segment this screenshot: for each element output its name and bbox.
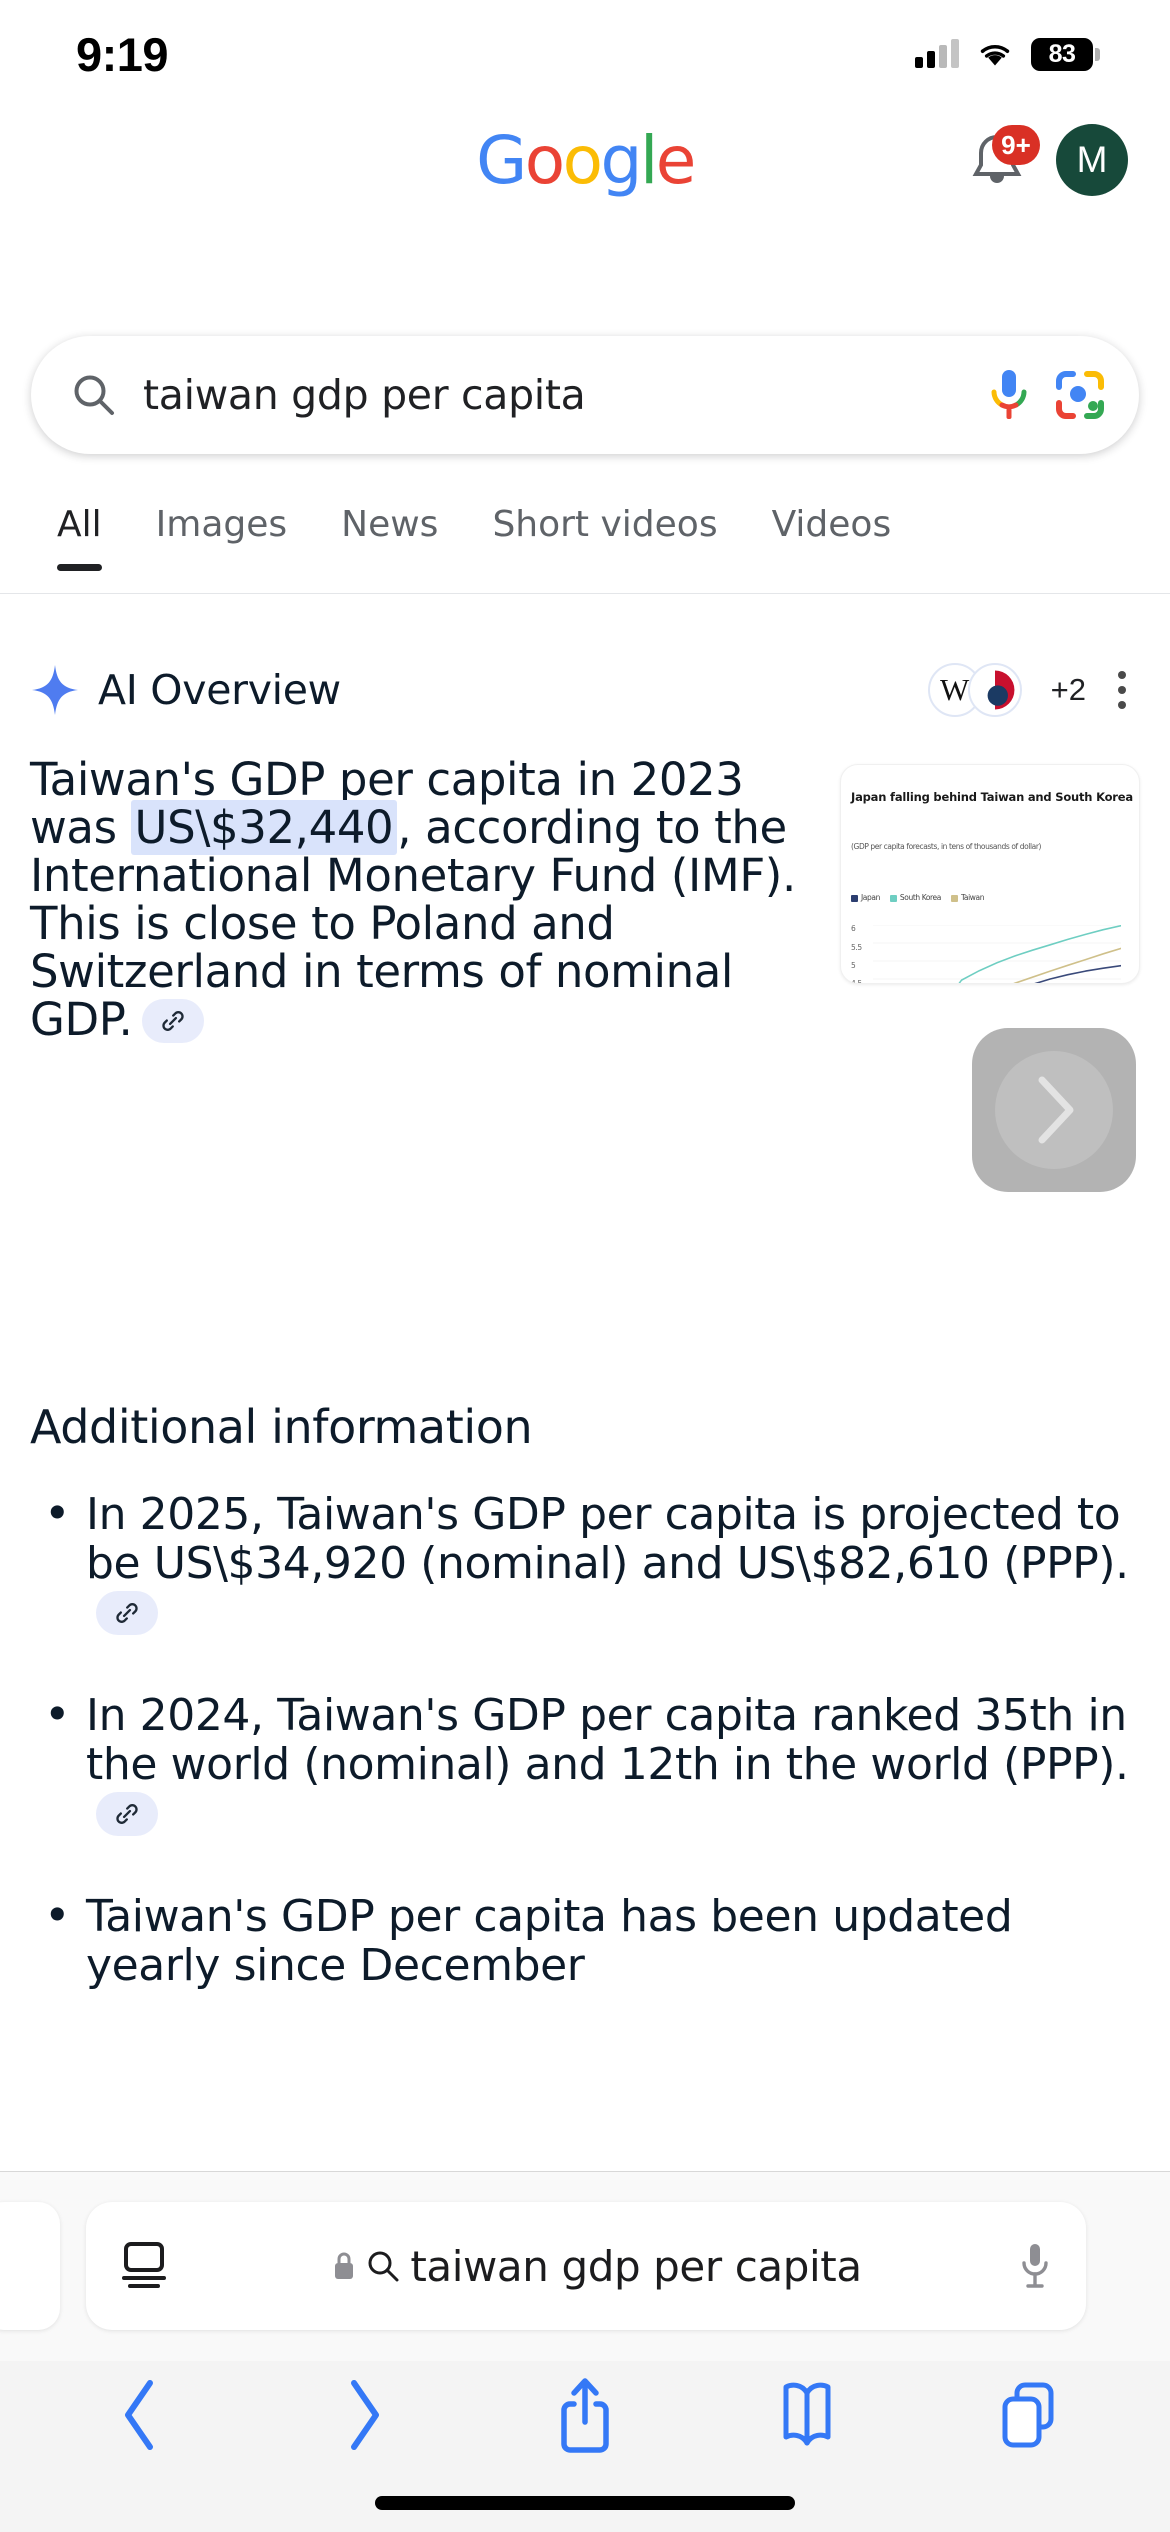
link-chip-icon[interactable] xyxy=(96,1591,158,1635)
tab-images[interactable]: Images xyxy=(129,496,315,545)
microphone-icon[interactable] xyxy=(1020,2242,1050,2290)
list-item: • In 2024, Taiwan's GDP per capita ranke… xyxy=(30,1691,1140,1840)
bullet-text-content: In 2025, Taiwan's GDP per capita is proj… xyxy=(86,1489,1129,1589)
back-button[interactable] xyxy=(86,2368,196,2462)
logo-letter-g: g xyxy=(601,122,640,199)
legend-label-japan: Japan xyxy=(861,874,880,922)
tab-news[interactable]: News xyxy=(314,496,465,545)
tab-all[interactable]: All xyxy=(30,496,129,545)
reader-view-icon[interactable] xyxy=(120,2241,174,2291)
avatar[interactable]: M xyxy=(1056,124,1128,196)
carousel-next-button[interactable] xyxy=(972,1028,1136,1192)
tabs-button[interactable] xyxy=(974,2368,1084,2462)
header-actions: 9+ M xyxy=(968,124,1128,196)
legend-south-korea: South Korea xyxy=(890,874,941,922)
logo-letter-o1: o xyxy=(525,122,563,199)
ytick-4: 4 xyxy=(851,979,855,984)
battery-icon: 83 xyxy=(1031,38,1100,71)
bullet-text: In 2024, Taiwan's GDP per capita ranked … xyxy=(86,1691,1140,1840)
bullet-marker: • xyxy=(30,1892,86,1990)
news-favicon xyxy=(968,663,1022,717)
adjacent-tab-peek[interactable] xyxy=(0,2202,60,2330)
microphone-icon[interactable] xyxy=(989,368,1029,422)
bullet-text-content: In 2024, Taiwan's GDP per capita ranked … xyxy=(86,1690,1129,1790)
tab-videos[interactable]: Videos xyxy=(745,496,919,545)
additional-information-list: • In 2025, Taiwan's GDP per capita is pr… xyxy=(30,1490,1140,2042)
chart-series-south-korea xyxy=(873,926,1121,984)
wifi-icon xyxy=(976,40,1014,68)
legend-label-taiwan: Taiwan xyxy=(961,874,984,922)
logo-letter-G: G xyxy=(476,122,525,199)
ai-overview-header: AI Overview W +2 xyxy=(0,642,1170,738)
share-icon xyxy=(554,2374,616,2456)
legend-label-south-korea: South Korea xyxy=(900,874,941,922)
chevron-right-icon xyxy=(1024,1070,1084,1150)
ai-paragraph-highlight: US\$32,440 xyxy=(131,800,398,855)
bookmarks-button[interactable] xyxy=(752,2368,862,2462)
home-indicator xyxy=(375,2496,795,2510)
notifications-button[interactable]: 9+ xyxy=(968,129,1026,191)
google-logo[interactable]: Google xyxy=(476,122,694,199)
status-time: 9:19 xyxy=(76,27,168,82)
link-chip-icon[interactable] xyxy=(142,999,204,1043)
url-text: taiwan gdp per capita xyxy=(410,2242,861,2291)
status-bar: 9:19 83 xyxy=(0,0,1170,100)
chart-title: Japan falling behind Taiwan and South Ko… xyxy=(851,773,1133,821)
share-button[interactable] xyxy=(530,2368,640,2462)
legend-taiwan: Taiwan xyxy=(951,874,984,922)
search-icon xyxy=(71,372,117,418)
more-options-icon[interactable] xyxy=(1108,663,1136,717)
chart-thumbnail[interactable]: Japan falling behind Taiwan and South Ko… xyxy=(840,764,1140,984)
google-lens-icon[interactable] xyxy=(1055,370,1105,420)
search-bar[interactable]: taiwan gdp per capita xyxy=(31,336,1139,454)
google-header: Google 9+ M xyxy=(0,106,1170,214)
chart-legend: Japan South Korea Taiwan xyxy=(851,874,1133,922)
additional-information-title: Additional information xyxy=(30,1400,532,1454)
bullet-text: Taiwan's GDP per capita has been updated… xyxy=(86,1892,1140,1990)
lock-icon xyxy=(332,2251,356,2281)
chart-plot: 6 5.5 5 4.5 4 3.5 xyxy=(851,925,1133,984)
link-chip-icon[interactable] xyxy=(96,1792,158,1836)
bullet-text: In 2025, Taiwan's GDP per capita is proj… xyxy=(86,1490,1140,1639)
battery-percent: 83 xyxy=(1049,40,1076,69)
logo-letter-l: l xyxy=(640,122,656,199)
cellular-signal-icon xyxy=(915,40,959,68)
search-tabs: All Images News Short videos Videos xyxy=(0,496,1170,594)
forward-button[interactable] xyxy=(308,2368,418,2462)
extra-sources-count: +2 xyxy=(1051,672,1086,708)
list-item: • In 2025, Taiwan's GDP per capita is pr… xyxy=(30,1490,1140,1639)
browser-url-bar-area: taiwan gdp per capita xyxy=(0,2171,1170,2361)
chevron-right-icon xyxy=(336,2375,390,2455)
bullet-marker: • xyxy=(30,1490,86,1639)
search-input[interactable]: taiwan gdp per capita xyxy=(143,371,963,419)
ai-overview-body: Japan falling behind Taiwan and South Ko… xyxy=(30,756,1140,1047)
url-center[interactable]: taiwan gdp per capita xyxy=(192,2242,1002,2291)
browser-toolbar xyxy=(0,2360,1170,2470)
chart-series-japan xyxy=(873,966,1121,984)
logo-letter-o2: o xyxy=(563,122,601,199)
status-indicators: 83 xyxy=(915,38,1100,71)
url-bar[interactable]: taiwan gdp per capita xyxy=(86,2202,1086,2330)
book-icon xyxy=(774,2379,840,2451)
tab-short-videos[interactable]: Short videos xyxy=(465,496,744,545)
logo-letter-e: e xyxy=(656,122,694,199)
tabs-icon xyxy=(995,2379,1063,2451)
chart-lines xyxy=(873,925,1121,984)
avatar-initial: M xyxy=(1077,139,1108,181)
chart-subtitle: (GDP per capita forecasts, in tens of th… xyxy=(851,823,1133,871)
search-icon xyxy=(366,2249,400,2283)
ai-overview-title: AI Overview xyxy=(98,666,341,714)
list-item: • Taiwan's GDP per capita has been updat… xyxy=(30,1892,1140,1990)
notifications-badge: 9+ xyxy=(992,125,1040,165)
chart-series-taiwan xyxy=(873,948,1121,984)
source-favicons[interactable]: W xyxy=(928,663,1022,717)
ai-overview-sources: W +2 xyxy=(928,663,1136,717)
chevron-left-icon xyxy=(114,2375,168,2455)
sparkle-icon xyxy=(30,663,80,717)
bullet-marker: • xyxy=(30,1691,86,1840)
